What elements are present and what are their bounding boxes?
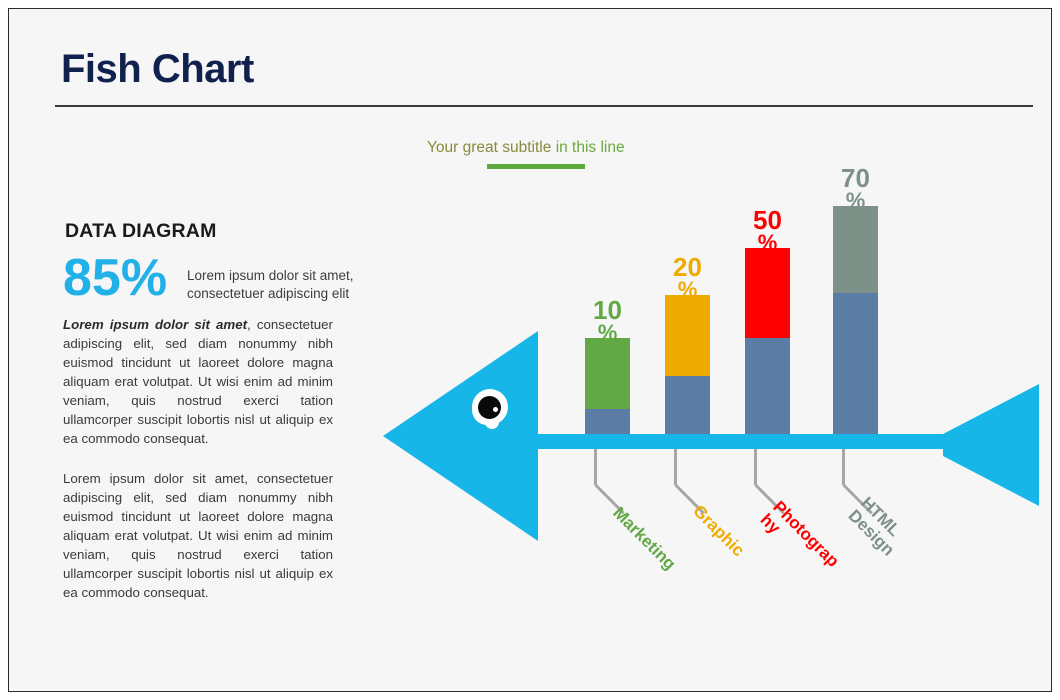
subtitle-underline bbox=[487, 164, 585, 169]
fish-eye-glint-icon bbox=[493, 407, 498, 412]
bar-segment-base bbox=[745, 338, 790, 434]
bar-value-label: 50% bbox=[733, 208, 803, 254]
bar-segment-top bbox=[833, 206, 878, 293]
bar-value-label: 10% bbox=[573, 298, 643, 344]
body-paragraph-1: Lorem ipsum dolor sit amet, consectetuer… bbox=[63, 315, 333, 448]
bar-category-label-line: Graphic bbox=[689, 502, 744, 557]
paragraph-1-rest: , consectetuer adipiscing elit, sed diam… bbox=[63, 317, 333, 446]
bar-segment-base bbox=[833, 293, 878, 434]
bar-value-label: 70% bbox=[821, 166, 891, 212]
bar-segment-top bbox=[585, 338, 630, 409]
subtitle: Your great subtitle in this line bbox=[427, 139, 625, 157]
percent-figure: 85% bbox=[63, 252, 167, 304]
subtitle-part-2: in this line bbox=[556, 139, 625, 156]
bone-connector-vertical bbox=[754, 449, 757, 485]
body-paragraph-2: Lorem ipsum dolor sit amet, consectetuer… bbox=[63, 469, 333, 602]
bar-category-label: HTMLDesign bbox=[844, 494, 912, 562]
paragraph-1-lead: Lorem ipsum dolor sit amet bbox=[63, 317, 247, 332]
bar-category-label: Marketing bbox=[609, 504, 664, 559]
slide-canvas: Fish Chart Your great subtitle in this l… bbox=[8, 8, 1052, 692]
bone-connector-vertical bbox=[594, 449, 597, 485]
bar-segment-top bbox=[745, 248, 790, 338]
data-diagram-heading: DATA DIAGRAM bbox=[65, 220, 217, 243]
bar-segment-base bbox=[585, 409, 630, 434]
bar-category-label-line: Marketing bbox=[609, 504, 664, 559]
page-title: Fish Chart bbox=[61, 47, 254, 92]
bone-connector-vertical bbox=[842, 449, 845, 485]
fish-spine bbox=[521, 434, 961, 449]
bone-connector-vertical bbox=[674, 449, 677, 485]
bar-value-label: 20% bbox=[653, 255, 723, 301]
fish-tail-icon bbox=[943, 384, 1039, 506]
subtitle-part-1: Your great subtitle bbox=[427, 139, 551, 156]
bar-segment-base bbox=[665, 376, 710, 434]
bar-segment-top bbox=[665, 295, 710, 376]
bar-category-label: Graphic bbox=[689, 502, 744, 557]
bar-category-label: Photography bbox=[756, 498, 824, 566]
fish-head-icon bbox=[383, 331, 538, 541]
title-divider bbox=[55, 105, 1033, 107]
percent-note: Lorem ipsum dolor sit amet, consectetuer… bbox=[187, 267, 392, 304]
